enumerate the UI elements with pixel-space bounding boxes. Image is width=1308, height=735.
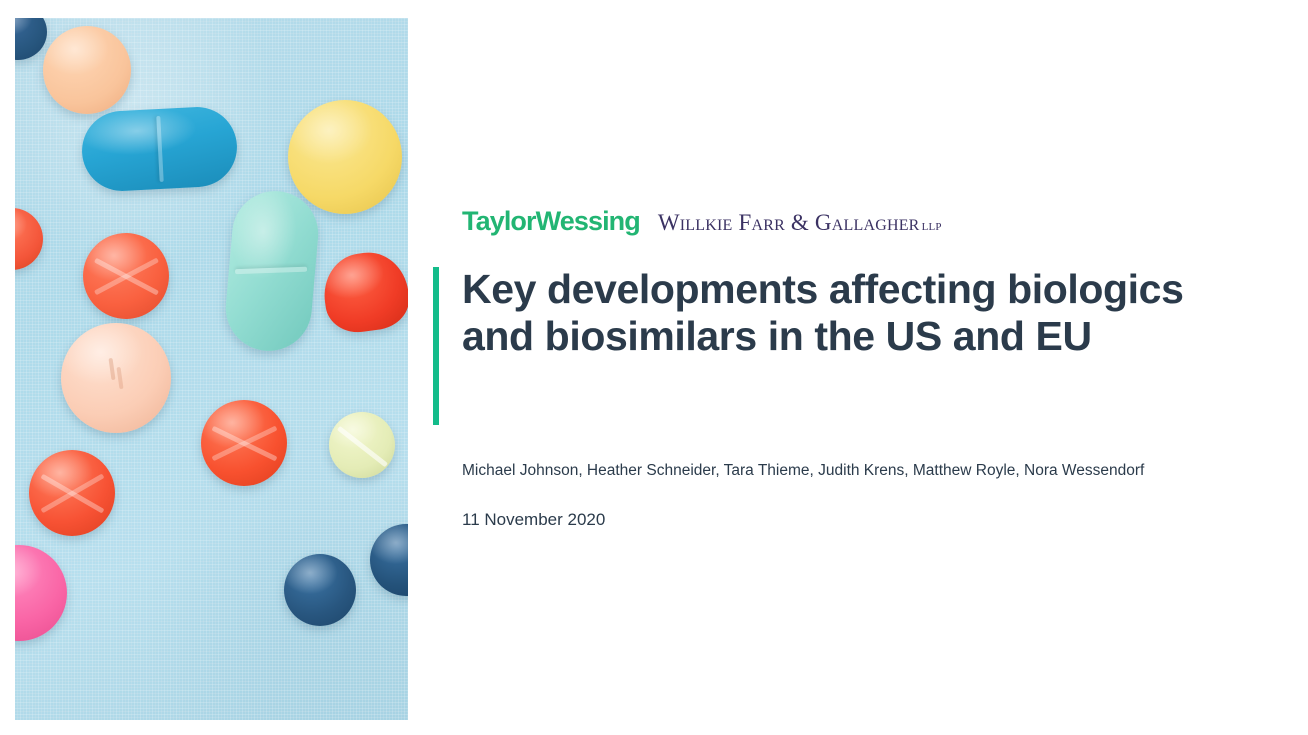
logo-row: TaylorWessing Willkie Farr & GallagherLL… (462, 208, 942, 242)
navy-round-pill-edge: navy-round-pill-edge (370, 524, 408, 596)
presentation-date: 11 November 2020 (462, 508, 605, 532)
orange-round-pill-edge: orange-round-pill-edge (15, 208, 43, 270)
orange-round-pill-left: orange-round-pill-left (83, 233, 169, 319)
red-triangular-pill: red-triangular-pill (319, 248, 408, 337)
orange-round-pill-lower: orange-round-pill-lower (29, 450, 115, 536)
willkie-farr-gallagher-logo: Willkie Farr & GallagherLLP (658, 211, 942, 234)
title-slide-photo: navy-round-pill-top-left peach-round-pil… (15, 18, 408, 720)
taylor-wessing-logo: TaylorWessing (462, 208, 640, 235)
navy-round-pill-lower: navy-round-pill-lower (284, 554, 356, 626)
mint-caplet-pill: mint-caplet-pill (222, 188, 322, 355)
willkie-logo-suffix: LLP (922, 222, 942, 233)
page-title: Key developments affecting biologics and… (462, 266, 1222, 360)
slide-content: TaylorWessing Willkie Farr & GallagherLL… (462, 0, 1282, 735)
blue-caplet-pill: blue-caplet-pill (80, 105, 239, 193)
peach-round-pill-top: peach-round-pill-top (43, 26, 131, 114)
pink-round-pill: pink-round-pill (15, 545, 67, 641)
willkie-logo-name: Willkie Farr & Gallagher (658, 211, 920, 234)
pale-pink-round-pill-large: pale-pink-round-pill-large (61, 323, 171, 433)
author-list: Michael Johnson, Heather Schneider, Tara… (462, 460, 1144, 482)
orange-round-pill-mid: orange-round-pill-mid (201, 400, 287, 486)
title-accent-bar (433, 267, 439, 425)
presentation-slide: navy-round-pill-top-left peach-round-pil… (0, 0, 1308, 735)
pale-yellow-round-pill: pale-yellow-round-pill (329, 412, 395, 478)
